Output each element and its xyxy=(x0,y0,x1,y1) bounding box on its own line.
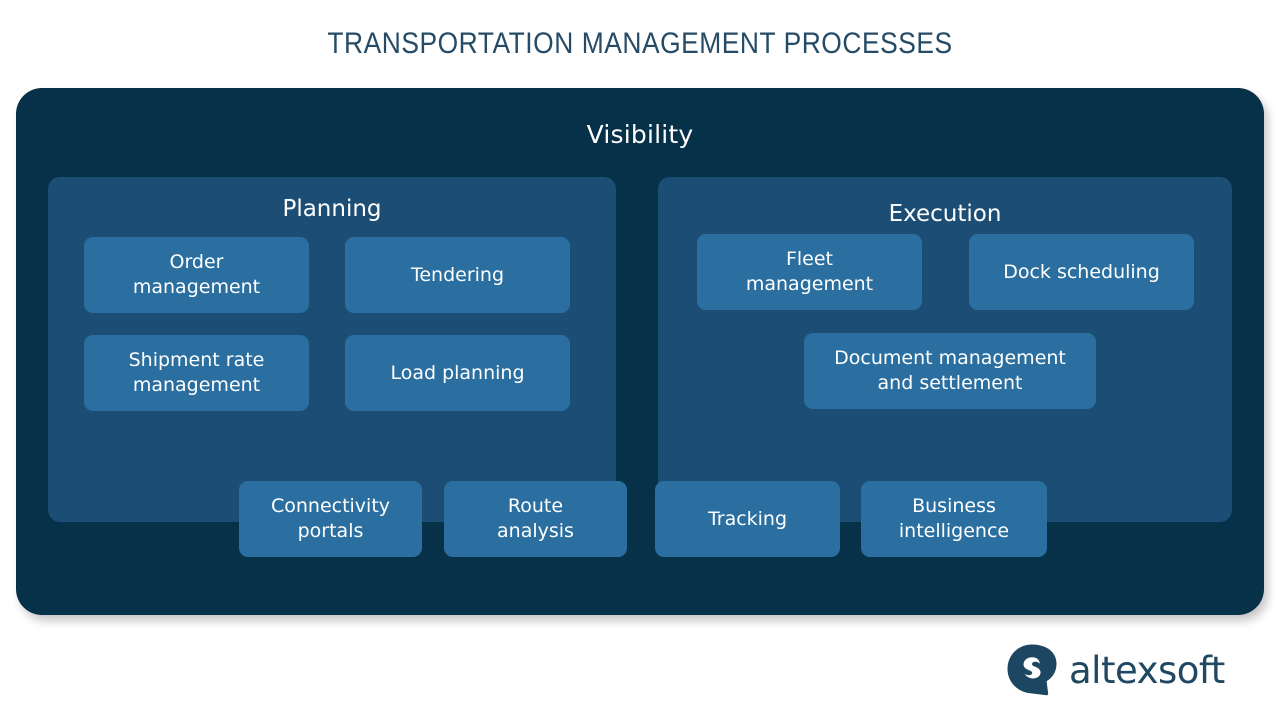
card-document-management-and-settlement[interactable]: Document management and settlement xyxy=(804,333,1096,409)
card-tracking[interactable]: Tracking xyxy=(655,481,840,557)
card-load-planning[interactable]: Load planning xyxy=(345,335,570,411)
card-connectivity-portals[interactable]: Connectivity portals xyxy=(239,481,422,557)
page-title: TRANSPORTATION MANAGEMENT PROCESSES xyxy=(77,27,1203,61)
visibility-label: Visibility xyxy=(16,120,1264,149)
card-shipment-rate-management[interactable]: Shipment rate management xyxy=(84,335,309,411)
panel-execution-title: Execution xyxy=(658,177,1232,227)
altexsoft-speech-bubble-icon xyxy=(1005,643,1059,697)
card-dock-scheduling[interactable]: Dock scheduling xyxy=(969,234,1194,310)
card-order-management[interactable]: Order management xyxy=(84,237,309,313)
card-tendering[interactable]: Tendering xyxy=(345,237,570,313)
altexsoft-wordmark: altexsoft xyxy=(1069,652,1225,689)
card-route-analysis[interactable]: Route analysis xyxy=(444,481,627,557)
visibility-container: Visibility Planning Execution Order mana… xyxy=(16,88,1264,615)
card-fleet-management[interactable]: Fleet management xyxy=(697,234,922,310)
altexsoft-logo: altexsoft xyxy=(1005,640,1195,700)
panel-planning-title: Planning xyxy=(48,177,616,222)
card-business-intelligence[interactable]: Business intelligence xyxy=(861,481,1047,557)
